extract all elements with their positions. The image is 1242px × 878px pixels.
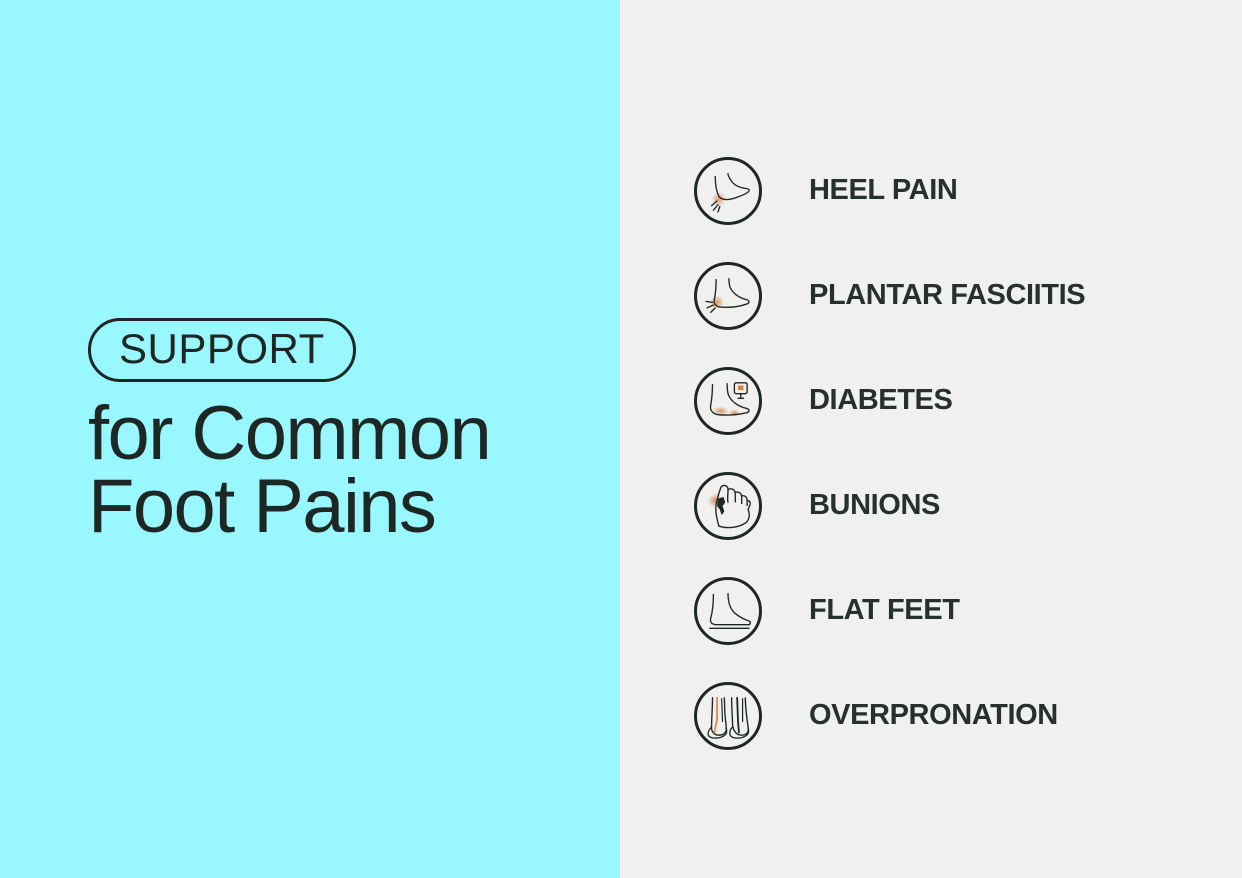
condition-label: OVERPRONATION xyxy=(809,701,1058,730)
diabetes-icon xyxy=(694,367,762,435)
list-item: FLAT FEET xyxy=(694,558,1154,663)
condition-label: DIABETES xyxy=(809,386,952,415)
heel-pain-icon xyxy=(694,157,762,225)
condition-label: HEEL PAIN xyxy=(809,176,957,205)
support-badge-label: SUPPORT xyxy=(119,328,325,370)
bunions-icon xyxy=(694,472,762,540)
headline-line-1: for Common xyxy=(88,398,588,471)
condition-label: BUNIONS xyxy=(809,491,940,520)
conditions-panel: HEEL PAIN PLANTAR FASCIITIS xyxy=(620,0,1242,878)
support-badge: SUPPORT xyxy=(88,318,356,382)
condition-label: FLAT FEET xyxy=(809,596,960,625)
condition-label: PLANTAR FASCIITIS xyxy=(809,281,1085,310)
conditions-list: HEEL PAIN PLANTAR FASCIITIS xyxy=(694,138,1154,768)
list-item: DIABETES xyxy=(694,348,1154,453)
page-title: for Common Foot Pains xyxy=(88,398,588,544)
hero-panel: SUPPORT for Common Foot Pains xyxy=(0,0,620,878)
overpronation-icon xyxy=(694,682,762,750)
plantar-fasciitis-icon xyxy=(694,262,762,330)
list-item: OVERPRONATION xyxy=(694,663,1154,768)
headline-line-2: Foot Pains xyxy=(88,471,588,544)
list-item: PLANTAR FASCIITIS xyxy=(694,243,1154,348)
list-item: BUNIONS xyxy=(694,453,1154,558)
headline-block: SUPPORT for Common Foot Pains xyxy=(88,318,588,544)
flat-feet-icon xyxy=(694,577,762,645)
foot-pain-support-poster: SUPPORT for Common Foot Pains xyxy=(0,0,1242,878)
list-item: HEEL PAIN xyxy=(694,138,1154,243)
